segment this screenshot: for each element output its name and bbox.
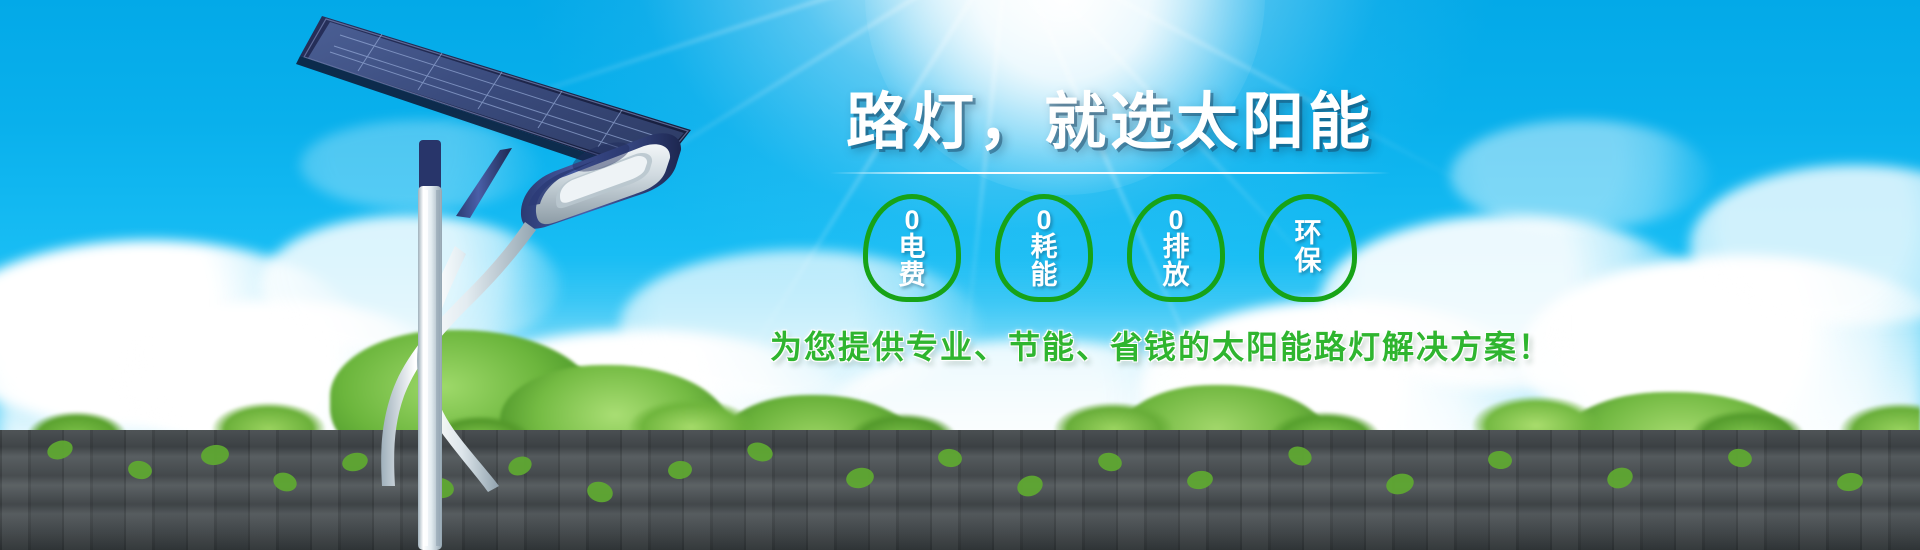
badge-line-3: 费 (899, 262, 926, 290)
badge-line-1: 0 (1036, 207, 1051, 235)
badge-line-2: 排 (1163, 234, 1190, 262)
badge-line-2: 环 (1295, 220, 1322, 248)
feature-badge-0-consumption[interactable]: 0 耗 能 (995, 194, 1093, 302)
tiled-wall (0, 430, 1920, 550)
badge-line-2: 耗 (1031, 234, 1058, 262)
feature-badge-0-electricity[interactable]: 0 电 费 (863, 194, 961, 302)
badge-line-3: 放 (1163, 262, 1190, 290)
title-divider (830, 172, 1390, 174)
banner-copy: 路灯，就选太阳能 0 电 费 0 耗 能 0 排 放 环 保 (770, 92, 1450, 368)
badge-line-2: 电 (899, 234, 926, 262)
badge-line-3: 保 (1295, 248, 1322, 276)
solar-street-light-banner: 路灯，就选太阳能 0 电 费 0 耗 能 0 排 放 环 保 (0, 0, 1920, 550)
badge-line-3: 能 (1031, 262, 1058, 290)
cloud (1450, 120, 1710, 230)
badge-line-1: 0 (1168, 207, 1183, 235)
feature-badge-0-emission[interactable]: 0 排 放 (1127, 194, 1225, 302)
page-title: 路灯，就选太阳能 (770, 92, 1450, 154)
feature-badge-list: 0 电 费 0 耗 能 0 排 放 环 保 (770, 194, 1450, 302)
banner-subtitle: 为您提供专业、节能、省钱的太阳能路灯解决方案！ (770, 322, 1450, 368)
cloud (300, 120, 540, 210)
feature-badge-eco-friendly[interactable]: 环 保 (1259, 194, 1357, 302)
badge-line-1: 0 (904, 207, 919, 235)
